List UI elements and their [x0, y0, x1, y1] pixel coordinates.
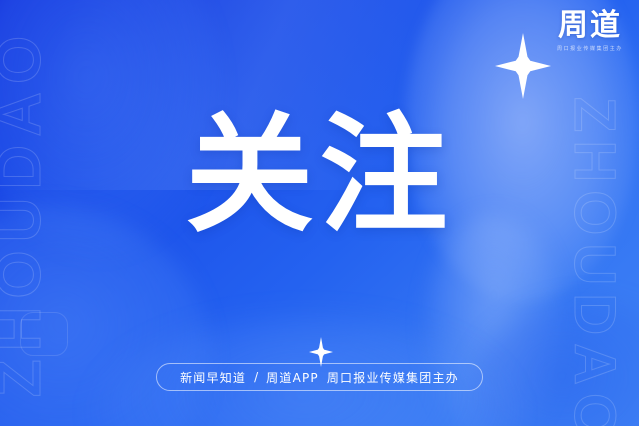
- brand-logo: 周道 周口报业传媒集团主办: [557, 10, 623, 52]
- sparkle-star-icon-large: [495, 33, 551, 99]
- brand-logo-mark: 周道: [557, 10, 623, 42]
- footer-banner-item-news: 新闻早知道: [180, 369, 246, 386]
- decorative-rounded-square: [20, 312, 68, 356]
- brand-logo-subtitle: 周口报业传媒集团主办: [557, 45, 623, 52]
- footer-banner-item-issuer: 周口报业传媒集团主办: [327, 369, 459, 386]
- page-title: 关注: [0, 112, 639, 240]
- footer-banner-separator: /: [254, 370, 258, 384]
- background-blob-bottom-right: [470, 300, 639, 426]
- footer-banner: 新闻早知道 / 周道APP 周口报业传媒集团主办: [156, 363, 483, 391]
- footer-banner-item-app: 周道APP: [266, 369, 319, 386]
- poster-canvas: ZHOUDAO ZHOUDAO 周道 周口报业传媒集团主办 关注 新闻早知道 /…: [0, 0, 639, 426]
